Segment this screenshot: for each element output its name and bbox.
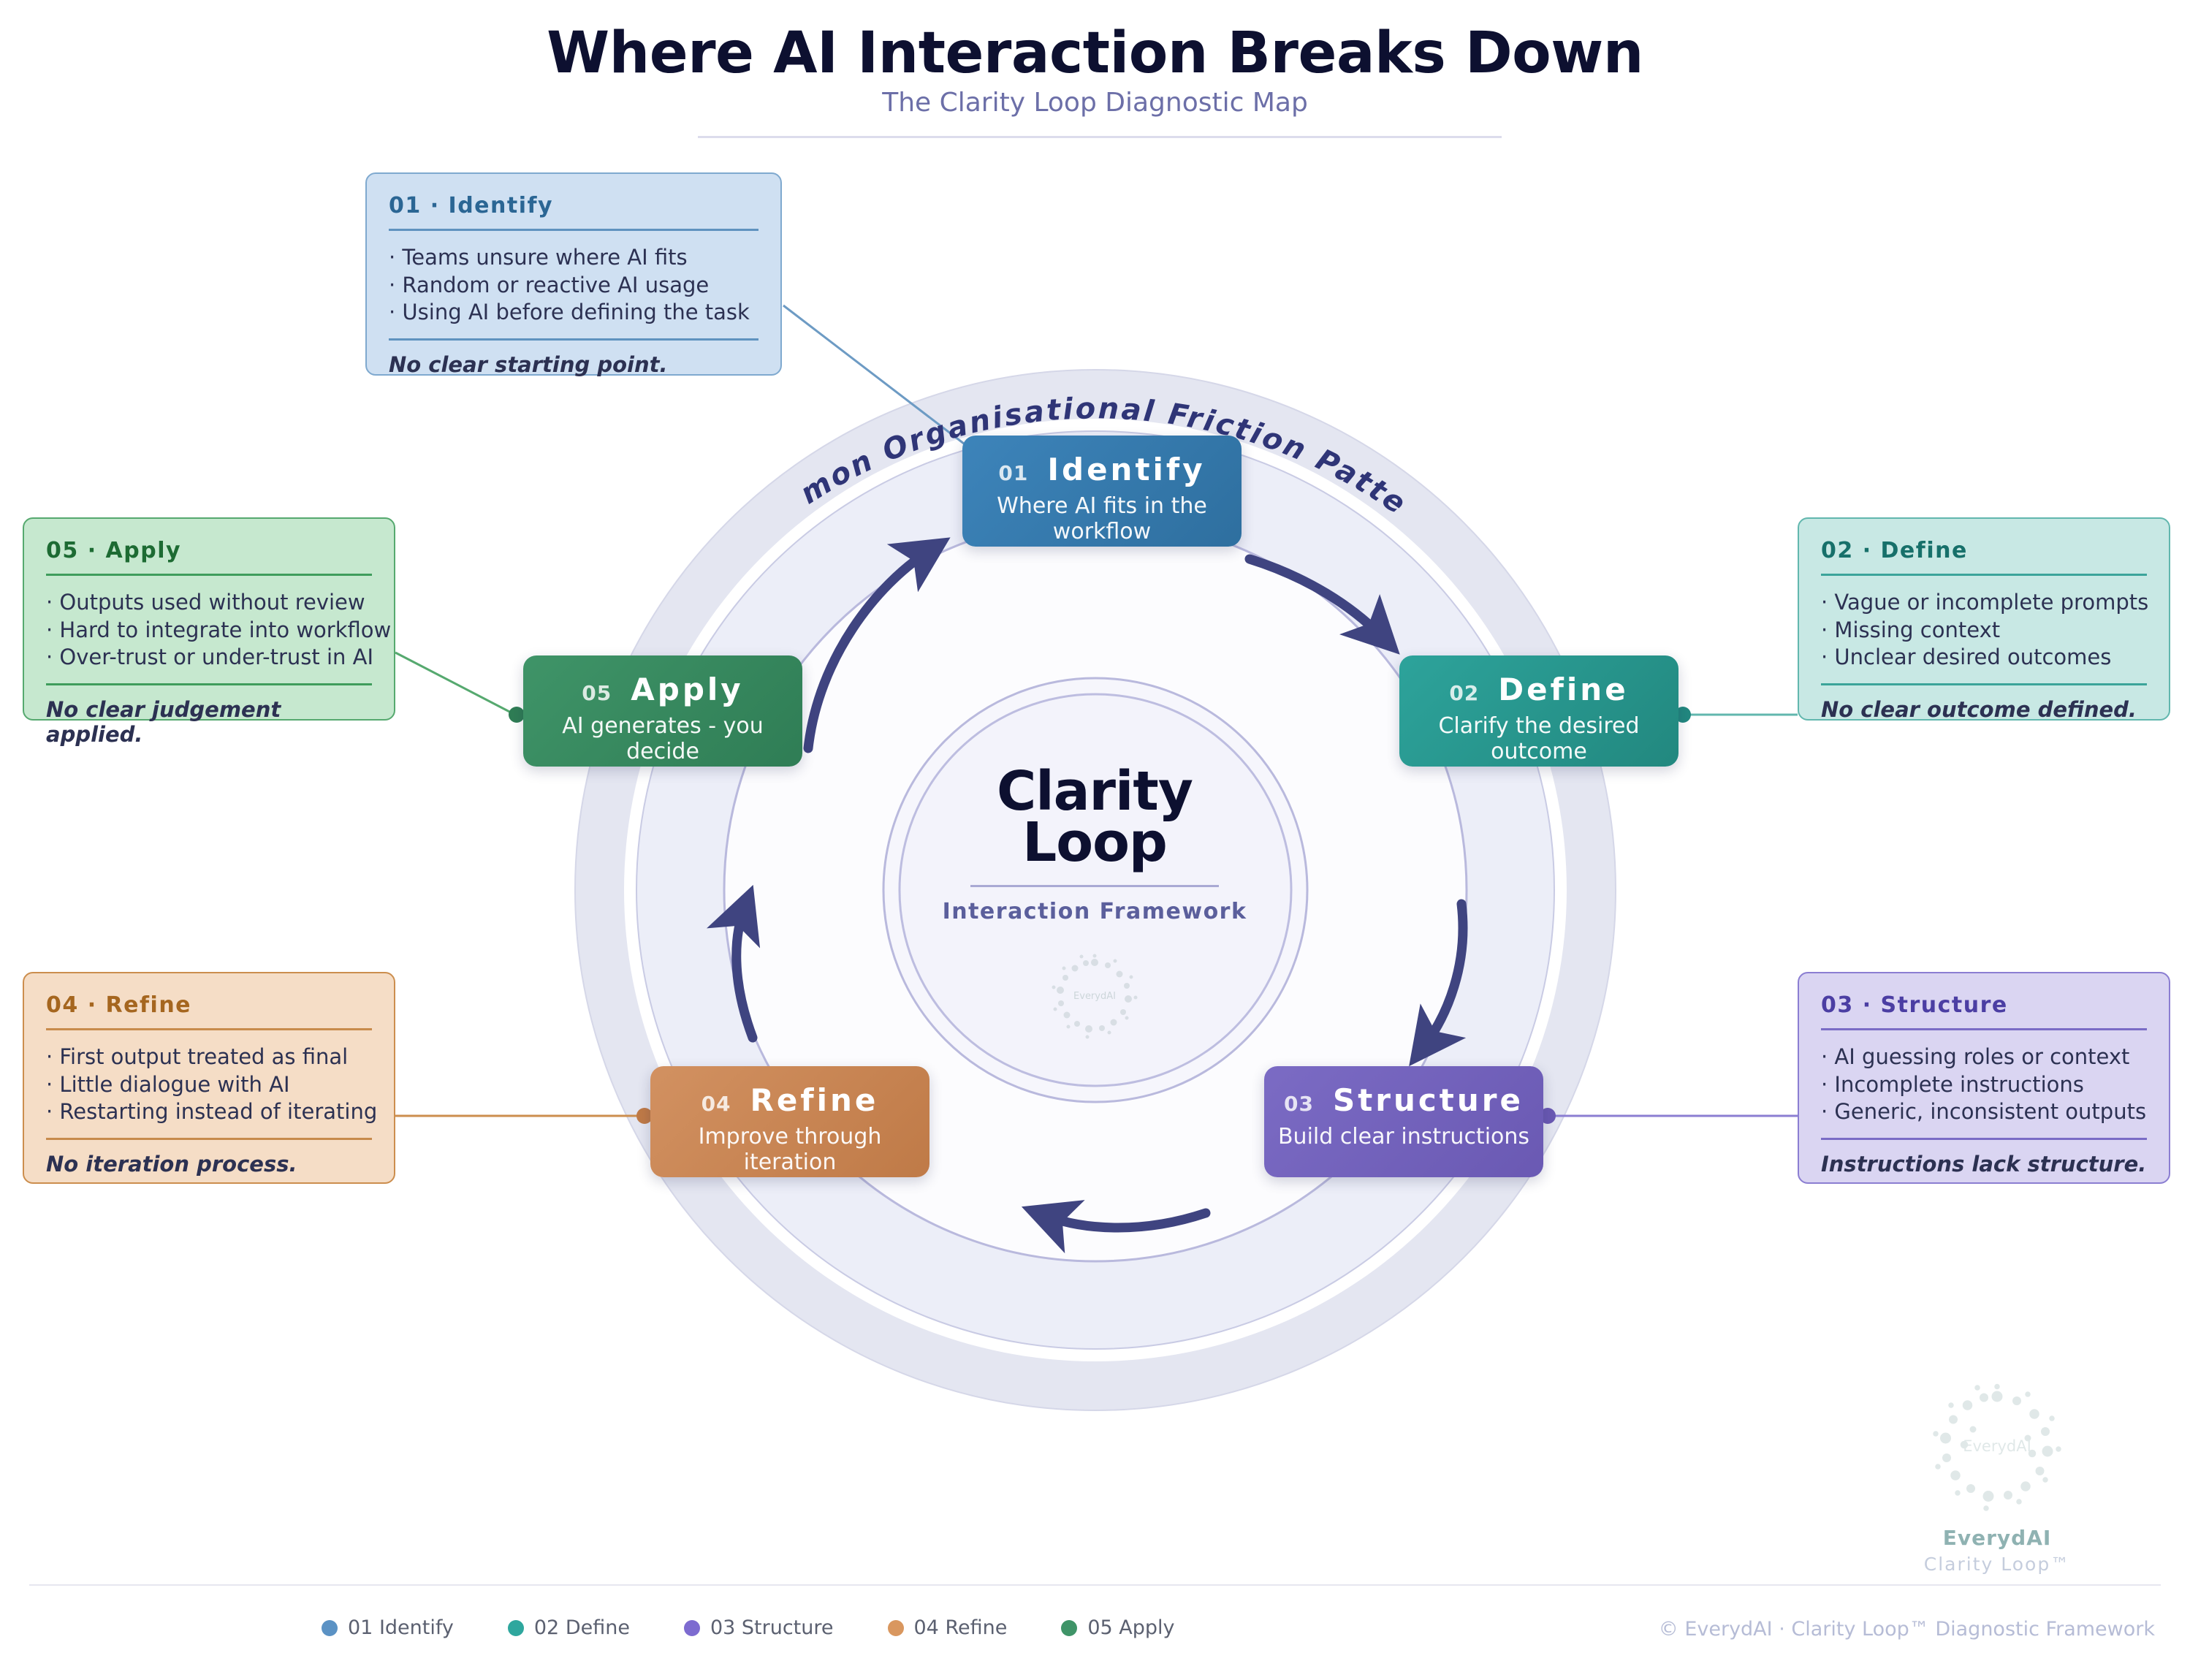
callout-structure: 03 · Structure · AI guessing roles or co…	[1798, 972, 2170, 1184]
node-structure[interactable]: 03 Structure Build clear instructions	[1264, 1066, 1543, 1177]
callout-define-list: · Vague or incomplete prompts · Missing …	[1821, 589, 2147, 672]
node-refine[interactable]: 04 Refine Improve through iteration	[650, 1066, 929, 1177]
legend-dot-icon	[888, 1620, 904, 1636]
list-item: · Incomplete instructions	[1821, 1071, 2147, 1099]
legend-label: 05 Apply	[1087, 1616, 1174, 1639]
list-item: · Teams unsure where AI fits	[389, 244, 758, 272]
callout-identify-rule2	[389, 338, 758, 341]
legend-dot-icon	[1061, 1620, 1077, 1636]
callout-apply-heading: 05 · Apply	[46, 538, 372, 574]
callout-apply-note: No clear judgement applied.	[46, 697, 372, 747]
list-item: · Unclear desired outcomes	[1821, 644, 2147, 672]
legend-item-apply: 05 Apply	[1061, 1616, 1174, 1639]
callout-identify: 01 · Identify · Teams unsure where AI fi…	[365, 172, 782, 376]
node-refine-header: 04 Refine	[650, 1066, 929, 1118]
list-item: · Hard to integrate into workflow	[46, 617, 372, 645]
legend-dot-icon	[322, 1620, 338, 1636]
connector-apply	[395, 653, 515, 715]
node-structure-title: Structure	[1333, 1082, 1524, 1118]
diagram-stage: Common Organisational Friction Patterns …	[0, 0, 2190, 1680]
callout-identify-rule	[389, 229, 758, 231]
list-item: · Missing context	[1821, 617, 2147, 645]
list-item: · Vague or incomplete prompts	[1821, 589, 2147, 617]
brand-logo-text: EverydAI	[1963, 1437, 2031, 1455]
list-item: · Random or reactive AI usage	[389, 272, 758, 300]
callout-refine-note: No iteration process.	[46, 1152, 372, 1177]
callout-identify-note: No clear starting point.	[389, 352, 758, 377]
callout-define-rule2	[1821, 683, 2147, 685]
list-item: · Little dialogue with AI	[46, 1071, 372, 1099]
legend-label: 02 Define	[534, 1616, 630, 1639]
node-apply-title: Apply	[631, 672, 743, 707]
legend-dot-icon	[508, 1620, 524, 1636]
node-refine-desc: Improve through iteration	[650, 1124, 929, 1175]
callout-structure-heading: 03 · Structure	[1821, 992, 2147, 1028]
callout-apply-list: · Outputs used without review · Hard to …	[46, 589, 372, 672]
callout-identify-heading: 01 · Identify	[389, 193, 758, 229]
brand-sub: Clarity Loop™	[1895, 1554, 2099, 1575]
list-item: · AI guessing roles or context	[1821, 1044, 2147, 1071]
legend-label: 03 Structure	[710, 1616, 834, 1639]
callout-identify-list: · Teams unsure where AI fits · Random or…	[389, 244, 758, 327]
legend-item-structure: 03 Structure	[684, 1616, 834, 1639]
legend-label: 04 Refine	[914, 1616, 1008, 1639]
list-item: · Using AI before defining the task	[389, 299, 758, 327]
connector-dot-apply	[509, 707, 525, 723]
node-apply-header: 05 Apply	[523, 655, 802, 707]
list-item: · First output treated as final	[46, 1044, 372, 1071]
legend-item-identify: 01 Identify	[322, 1616, 454, 1639]
callout-refine-rule2	[46, 1138, 372, 1140]
node-define-header: 02 Define	[1399, 655, 1678, 707]
copyright: © EverydAI · Clarity Loop™ Diagnostic Fr…	[1659, 1618, 2155, 1641]
list-item: · Restarting instead of iterating	[46, 1098, 372, 1126]
node-identify[interactable]: 01 Identify Where AI fits in the workflo…	[962, 436, 1242, 547]
everydai-logo-icon: EverydAI	[1895, 1381, 2099, 1516]
legend-dot-icon	[684, 1620, 700, 1636]
node-apply-desc: AI generates - you decide	[523, 713, 802, 764]
node-apply-number: 05	[582, 681, 612, 705]
callout-refine-list: · First output treated as final · Little…	[46, 1044, 372, 1126]
callout-structure-list: · AI guessing roles or context · Incompl…	[1821, 1044, 2147, 1126]
hub-ring-inner	[900, 694, 1291, 1086]
legend-label: 01 Identify	[348, 1616, 454, 1639]
node-refine-number: 04	[702, 1092, 731, 1116]
callout-apply-rule	[46, 574, 372, 576]
node-define-desc: Clarify the desired outcome	[1399, 713, 1678, 764]
legend: 01 Identify 02 Define 03 Structure 04 Re…	[322, 1616, 1175, 1639]
brand-name: EverydAI	[1895, 1526, 2099, 1550]
node-structure-desc: Build clear instructions	[1264, 1124, 1543, 1149]
brand-block: EverydAI EverydAI Clarity Loop™	[1895, 1381, 2099, 1575]
node-identify-header: 01 Identify	[962, 436, 1242, 487]
list-item: · Generic, inconsistent outputs	[1821, 1098, 2147, 1126]
callout-define-heading: 02 · Define	[1821, 538, 2147, 574]
legend-item-define: 02 Define	[508, 1616, 630, 1639]
callout-refine: 04 · Refine · First output treated as fi…	[23, 972, 395, 1184]
callout-apply: 05 · Apply · Outputs used without review…	[23, 517, 395, 721]
node-identify-number: 01	[998, 461, 1028, 485]
callout-refine-rule	[46, 1028, 372, 1030]
list-item: · Outputs used without review	[46, 589, 372, 617]
node-structure-number: 03	[1284, 1092, 1314, 1116]
callout-define-rule	[1821, 574, 2147, 576]
callout-structure-rule2	[1821, 1138, 2147, 1140]
legend-item-refine: 04 Refine	[888, 1616, 1008, 1639]
list-item: · Over-trust or under-trust in AI	[46, 644, 372, 672]
callout-refine-heading: 04 · Refine	[46, 992, 372, 1028]
callout-define: 02 · Define · Vague or incomplete prompt…	[1798, 517, 2170, 721]
clarity-loop-rings: Common Organisational Friction Patterns	[0, 0, 2190, 1680]
node-define-number: 02	[1449, 681, 1479, 705]
node-identify-desc: Where AI fits in the workflow	[962, 493, 1242, 544]
node-identify-title: Identify	[1047, 452, 1205, 487]
node-define-title: Define	[1498, 672, 1628, 707]
footer-divider	[29, 1584, 2161, 1586]
node-structure-header: 03 Structure	[1264, 1066, 1543, 1118]
callout-apply-rule2	[46, 683, 372, 685]
node-refine-title: Refine	[750, 1082, 879, 1118]
node-define[interactable]: 02 Define Clarify the desired outcome	[1399, 655, 1678, 767]
callout-structure-rule	[1821, 1028, 2147, 1030]
node-apply[interactable]: 05 Apply AI generates - you decide	[523, 655, 802, 767]
callout-define-note: No clear outcome defined.	[1821, 697, 2147, 722]
callout-structure-note: Instructions lack structure.	[1821, 1152, 2147, 1177]
